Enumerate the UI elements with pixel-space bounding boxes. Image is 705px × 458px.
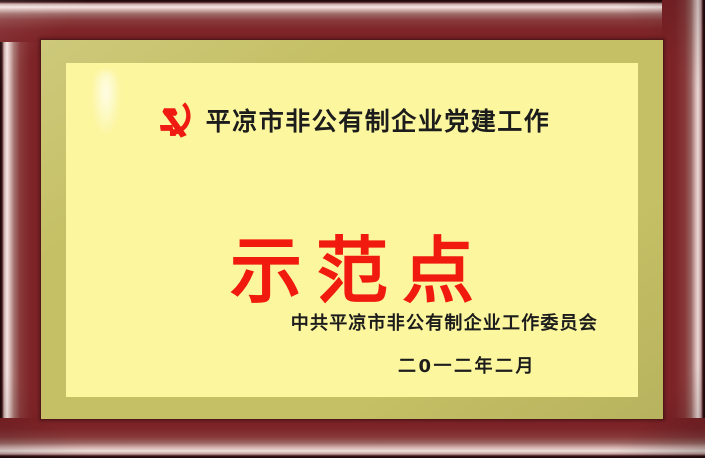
issuing-authority: 中共平凉市非公有制企业工作委员会 [66,315,598,333]
plaque-headline: 示范点 [66,235,638,307]
signature-block: 中共平凉市非公有制企业工作委员会 二0一二年二月 [66,315,598,376]
cpc-hammer-sickle-emblem-icon [154,99,196,141]
frame-bottom-bevel [0,418,705,458]
issue-date: 二0一二年二月 [66,358,536,376]
certificate-panel: 平凉市非公有制企业党建工作 示范点 中共平凉市非公有制企业工作委员会 二0一二年… [66,63,638,397]
frame-right-bevel [662,0,705,458]
frame-top-bevel [0,0,705,42]
award-plaque: 平凉市非公有制企业党建工作 示范点 中共平凉市非公有制企业工作委员会 二0一二年… [0,0,705,458]
title-row: 平凉市非公有制企业党建工作 [66,101,638,141]
plaque-title: 平凉市非公有制企业党建工作 [206,109,551,134]
certificate-content: 平凉市非公有制企业党建工作 示范点 中共平凉市非公有制企业工作委员会 二0一二年… [66,63,638,397]
mat-board: 平凉市非公有制企业党建工作 示范点 中共平凉市非公有制企业工作委员会 二0一二年… [41,40,663,419]
